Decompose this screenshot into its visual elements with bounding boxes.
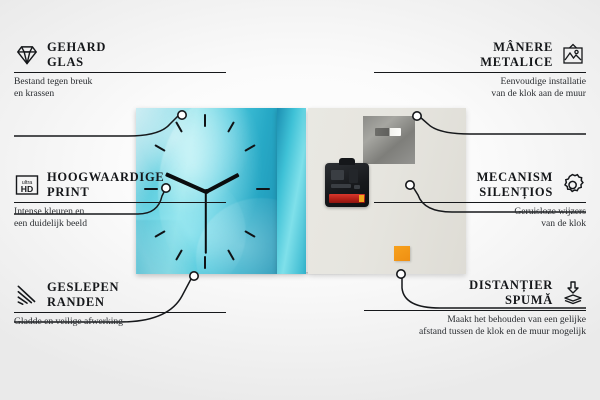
callout-dot-distantier-spuma	[397, 270, 405, 278]
feature-sub-line1: Gladde en veilige afwerking	[14, 316, 226, 328]
feature-title-line1: HOOGWAARDIGE	[47, 170, 164, 185]
feature-sub-line2: van de klok	[374, 218, 586, 230]
feature-title-line1: GEHARD	[47, 40, 106, 55]
feature-title-line1: DISTANȚIER	[469, 278, 553, 293]
feature-title-line1: MECANISM	[477, 170, 553, 185]
gear-icon	[560, 172, 586, 198]
callout-dot-gehard-glas	[178, 111, 186, 119]
feature-sub-line2: een duidelijk beeld	[14, 218, 226, 230]
callout-dot-manere-metalice	[413, 112, 421, 120]
feature-title-line2: METALICE	[480, 55, 553, 70]
svg-text:HD: HD	[21, 184, 33, 194]
feature-gehard-glas: GEHARD GLAS Bestand tegen breuk en krass…	[14, 40, 226, 99]
feature-distantier-spuma: DISTANȚIER SPUMĂ Maakt het behouden van …	[364, 278, 586, 337]
feature-geslepen-randen: GESLEPEN RANDEN Gladde en veilige afwerk…	[14, 280, 226, 328]
feature-title-line2: SILENȚIOS	[477, 185, 553, 200]
bevelled-edges-icon	[14, 282, 40, 308]
feature-sub-line2: van de klok aan de muur	[374, 88, 586, 100]
feature-title-line2: PRINT	[47, 185, 164, 200]
feature-sub-line2: en krassen	[14, 88, 226, 100]
diamond-icon	[14, 42, 40, 68]
infographic-canvas: GEHARD GLAS Bestand tegen breuk en krass…	[0, 0, 600, 400]
feature-hoogwaardige-print: ultra HD HOOGWAARDIGE PRINT Intense kleu…	[14, 170, 226, 229]
feature-sub-line1: Intense kleuren en	[14, 206, 226, 218]
callout-dot-geslepen-randen	[190, 272, 198, 280]
feature-title-line2: GLAS	[47, 55, 106, 70]
feature-sub-line1: Maakt het behouden van een gelijke	[364, 314, 586, 326]
feature-rule	[14, 72, 226, 73]
feature-rule	[364, 310, 586, 311]
feature-rule	[374, 202, 586, 203]
feature-mecanism-silentios: MECANISM SILENȚIOS Geruisloze wijzers va…	[374, 170, 586, 229]
feature-rule	[374, 72, 586, 73]
feature-sub-line1: Eenvoudige installatie	[374, 76, 586, 88]
feature-title-line2: RANDEN	[47, 295, 119, 310]
foam-spacer-icon	[560, 280, 586, 306]
feature-title-line2: SPUMĂ	[469, 293, 553, 308]
feature-sub-line1: Geruisloze wijzers	[374, 206, 586, 218]
ultra-hd-icon: ultra HD	[14, 172, 40, 198]
feature-title-line1: GESLEPEN	[47, 280, 119, 295]
picture-hanger-icon	[560, 42, 586, 68]
feature-manere-metalice: MÂNERE METALICE Eenvoudige installatie v…	[374, 40, 586, 99]
feature-sub-line1: Bestand tegen breuk	[14, 76, 226, 88]
feature-sub-line2: afstand tussen de klok en de muur mogeli…	[364, 326, 586, 338]
feature-title-line1: MÂNERE	[480, 40, 553, 55]
feature-rule	[14, 312, 226, 313]
feature-rule	[14, 202, 226, 203]
